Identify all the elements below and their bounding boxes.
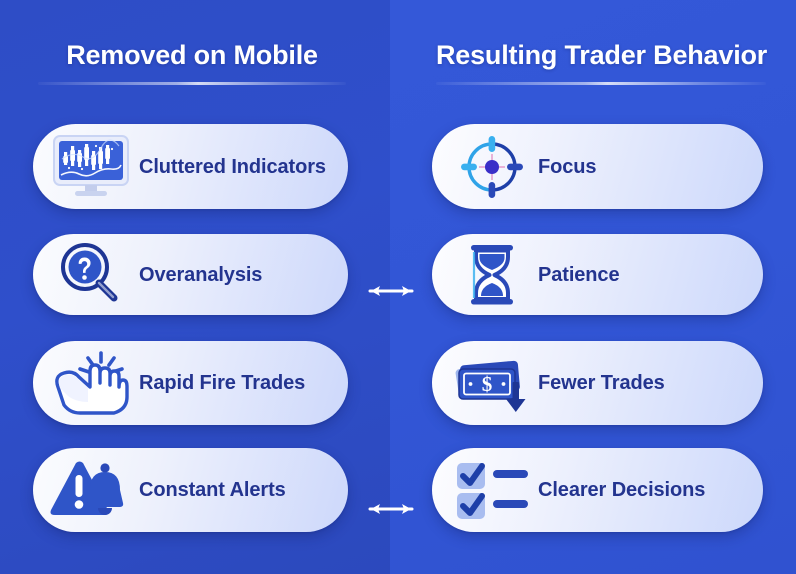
crosshair-target-icon [446,130,538,204]
tapping-hand-icon [43,346,139,420]
right-card-label: Focus [538,154,596,180]
column-header-right: Resulting Trader Behavior [436,38,766,85]
left-column-title: Removed on Mobile [38,38,346,72]
left-card-label: Cluttered Indicators [139,154,326,180]
banknotes-down-arrow-icon: $ [446,346,538,420]
left-card-label: Overanalysis [139,262,262,288]
infographic-root: Removed on Mobile Resulting Trader Behav… [0,0,796,574]
double-arrow-icon [360,499,422,519]
left-card-cluttered-indicators[interactable]: Cluttered Indicators [33,124,348,209]
left-card-overanalysis[interactable]: Overanalysis [33,234,348,315]
magnifier-question-icon [43,238,139,312]
left-card-constant-alerts[interactable]: Constant Alerts [33,448,348,532]
right-header-divider [436,82,766,85]
right-card-label: Fewer Trades [538,370,665,396]
right-card-focus[interactable]: Focus [432,124,763,209]
left-header-divider [38,82,346,85]
right-card-clearer-decisions[interactable]: Clearer Decisions [432,448,763,532]
left-card-label: Constant Alerts [139,477,286,503]
double-arrow-icon [360,281,422,301]
right-card-patience[interactable]: Patience [432,234,763,315]
hourglass-icon [446,238,538,312]
right-column-title: Resulting Trader Behavior [436,38,766,72]
warning-bell-icon [43,453,139,527]
right-card-fewer-trades[interactable]: $ Fewer Trades [432,341,763,425]
row-connector-arrow [358,248,424,333]
left-card-rapid-fire-trades[interactable]: Rapid Fire Trades [33,341,348,425]
right-card-label: Clearer Decisions [538,477,705,503]
checklist-icon [446,453,538,527]
left-card-label: Rapid Fire Trades [139,370,305,396]
monitor-candlestick-chart-icon [43,130,139,204]
row-connector-arrow [358,468,424,549]
column-header-left: Removed on Mobile [38,38,346,85]
svg-text:$: $ [482,372,493,396]
right-card-label: Patience [538,262,619,288]
